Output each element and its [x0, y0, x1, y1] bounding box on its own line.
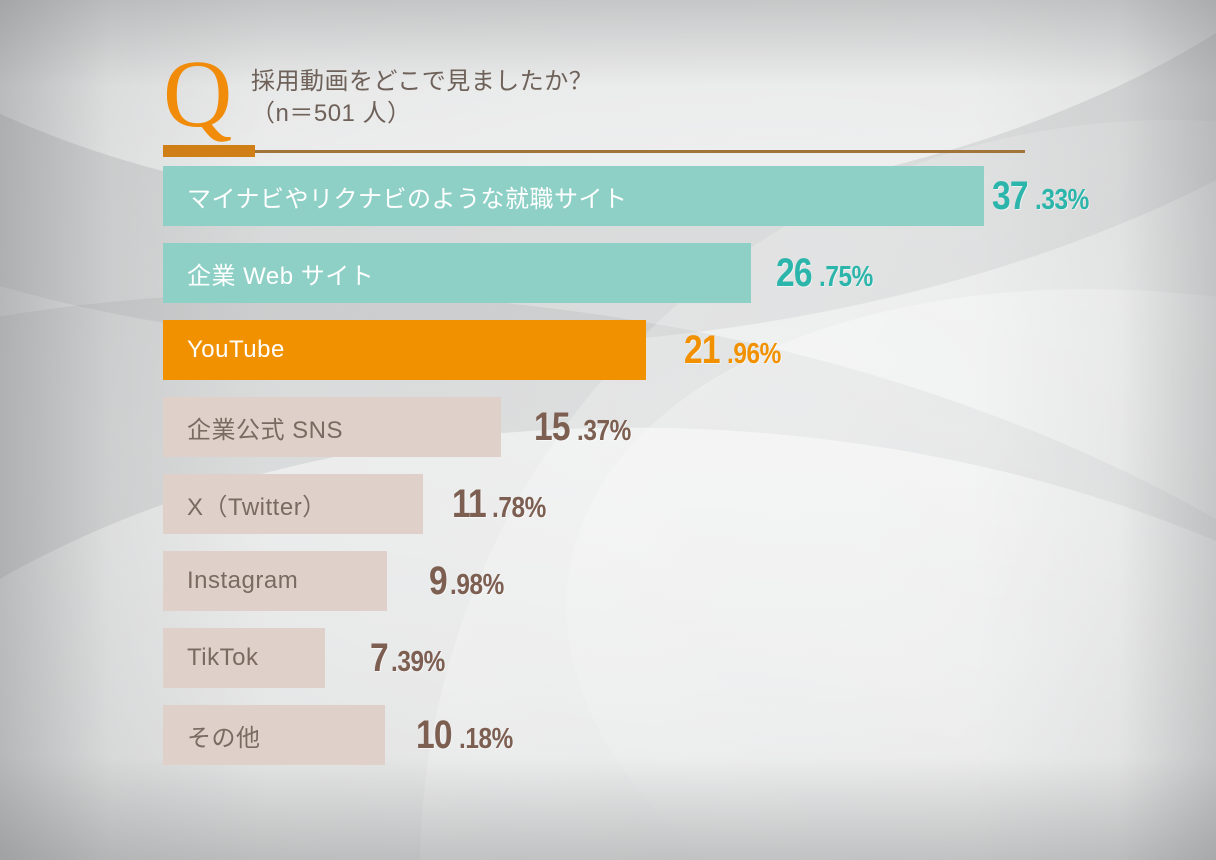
value-integer-part: 21 — [684, 328, 720, 372]
value-integer-part: 15 — [534, 405, 570, 449]
sample-size-label: （n＝501 人） — [251, 98, 593, 130]
bar-category-label: マイナビやリクナビのような就職サイト — [163, 179, 628, 214]
bar-2[interactable]: 企業 Web サイト — [163, 243, 751, 303]
question-header: Q 採用動画をどこで見ましたか？ （n＝501 人） — [163, 52, 1063, 147]
slide-canvas: Q 採用動画をどこで見ましたか？ （n＝501 人） マイナビやリクナビのような… — [0, 0, 1216, 860]
bar-category-label: その他 — [163, 718, 261, 753]
chart-row: X（Twitter）11.78% — [163, 474, 1163, 534]
chart-row: TikTok7.39% — [163, 628, 1163, 688]
bar-value-label: 10.18% — [416, 713, 523, 766]
bar-1[interactable]: マイナビやリクナビのような就職サイト — [163, 166, 984, 226]
chart-row: 企業 Web サイト26.75% — [163, 243, 1163, 303]
bar-5[interactable]: X（Twitter） — [163, 474, 423, 534]
value-decimal-part: .78% — [492, 486, 546, 530]
bar-value-label: 37.33% — [992, 174, 1099, 227]
value-integer-part: 37 — [992, 174, 1028, 218]
bar-8[interactable]: その他 — [163, 705, 385, 765]
chart-row: Instagram9.98% — [163, 551, 1163, 611]
bar-value-label: 7.39% — [370, 636, 455, 689]
chart-row: YouTube21.96% — [163, 320, 1163, 380]
value-decimal-part: .37% — [577, 409, 631, 453]
bar-4[interactable]: 企業公式 SNS — [163, 397, 501, 457]
value-decimal-part: .75% — [819, 255, 873, 299]
chart-row: マイナビやリクナビのような就職サイト37.33% — [163, 166, 1163, 226]
value-integer-part: 9 — [429, 559, 447, 603]
header-rule-accent — [163, 145, 255, 157]
bar-7[interactable]: TikTok — [163, 628, 325, 688]
bar-category-label: 企業 Web サイト — [163, 256, 374, 291]
value-integer-part: 11 — [452, 482, 486, 526]
value-decimal-part: .39% — [391, 640, 445, 684]
bar-category-label: 企業公式 SNS — [163, 410, 343, 445]
chart-row: その他10.18% — [163, 705, 1163, 765]
value-integer-part: 10 — [416, 713, 452, 757]
chart-row: 企業公式 SNS15.37% — [163, 397, 1163, 457]
bar-category-label: TikTok — [163, 644, 258, 672]
bar-value-label: 9.98% — [429, 559, 514, 612]
page-title: 採用動画をどこで見ましたか？ — [251, 66, 593, 98]
value-integer-part: 7 — [370, 636, 388, 680]
bar-3[interactable]: YouTube — [163, 320, 646, 380]
bar-category-label: X（Twitter） — [163, 487, 327, 522]
value-decimal-part: .96% — [727, 332, 781, 376]
bar-category-label: Instagram — [163, 567, 298, 595]
bar-value-label: 21.96% — [684, 328, 791, 381]
question-text-block: 採用動画をどこで見ましたか？ （n＝501 人） — [251, 66, 593, 130]
value-decimal-part: .33% — [1035, 178, 1089, 222]
bar-value-label: 15.37% — [534, 405, 641, 458]
bar-category-label: YouTube — [163, 336, 285, 364]
value-decimal-part: .98% — [450, 563, 504, 607]
bar-value-label: 11.78% — [452, 482, 556, 535]
value-integer-part: 26 — [776, 251, 812, 295]
question-mark-letter: Q — [163, 46, 232, 142]
bar-chart: マイナビやリクナビのような就職サイト37.33%企業 Web サイト26.75%… — [163, 166, 1163, 782]
bar-value-label: 26.75% — [776, 251, 883, 304]
bar-6[interactable]: Instagram — [163, 551, 387, 611]
value-decimal-part: .18% — [459, 717, 513, 761]
header-rule-thin — [163, 150, 1025, 153]
